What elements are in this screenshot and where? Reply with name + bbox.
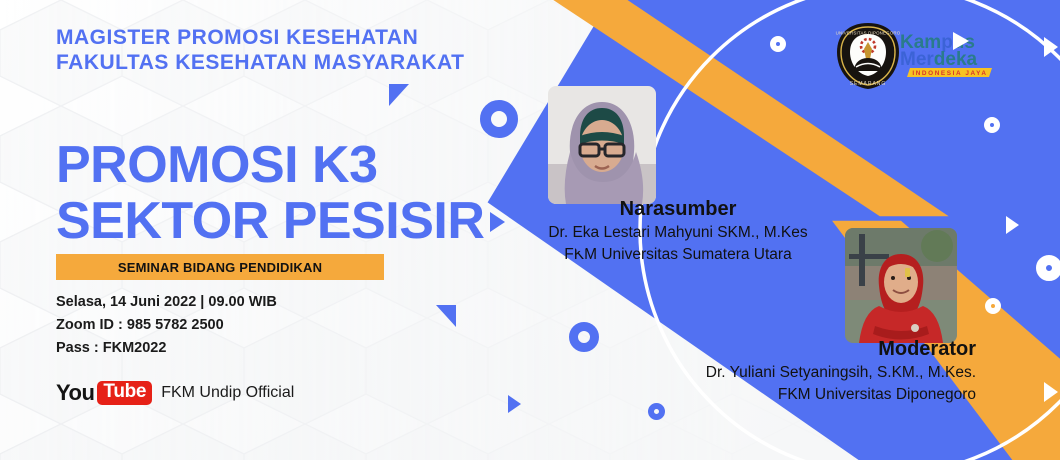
moderator-name: Dr. Yuliani Setyaningsih, S.KM., M.Kes. [660,362,976,384]
play-arrow-icon [490,212,505,232]
event-date: Selasa, 14 Juni 2022 | 09.00 WIB [56,291,277,314]
blue-ring-decor-1 [480,100,518,138]
header-line-1: MAGISTER PROMOSI KESEHATAN [56,26,464,51]
youtube-tube-text: Tube [97,381,152,405]
moderator-photo [845,228,957,343]
blue-triangle-decor-2 [436,305,456,327]
white-ring-decor-2 [984,117,1000,133]
page-title: PROMOSI K3 SEKTOR PESISIR [56,138,484,249]
white-ring-decor-3 [985,298,1001,314]
blue-ring-decor-4 [574,238,587,251]
badge-label: SEMINAR BIDANG PENDIDIKAN [118,260,322,275]
svg-text:SEMARANG: SEMARANG [850,81,887,87]
narasumber-role: Narasumber [528,197,828,222]
kampus-merdeka-logo-icon: Kampus Merdeka INDONESIA JAYA [898,28,1002,80]
youtube-channel-name: FKM Undip Official [161,384,294,402]
youtube-icon: You Tube [56,380,152,406]
narasumber-name: Dr. Eka Lestari Mahyuni SKM., M.Kes [528,222,828,244]
svg-text:INDONESIA JAYA: INDONESIA JAYA [912,70,987,77]
narasumber-block: Narasumber Dr. Eka Lestari Mahyuni SKM.,… [528,197,828,267]
narasumber-org: FKM Universitas Sumatera Utara [528,244,828,266]
white-ring-decor-1 [770,36,786,52]
title-line-1: PROMOSI K3 [56,138,484,194]
youtube-channel[interactable]: You Tube FKM Undip Official [56,380,294,406]
youtube-you-text: You [56,380,94,406]
seminar-banner: MAGISTER PROMOSI KESEHATAN FAKULTAS KESE… [0,0,1060,460]
svg-text:Merdeka: Merdeka [900,49,978,70]
svg-text:UNIVERSITAS DIPONEGORO: UNIVERSITAS DIPONEGORO [836,31,901,36]
seminar-category-badge: SEMINAR BIDANG PENDIDIKAN [56,254,384,280]
universitas-diponegoro-seal-icon: UNIVERSITAS DIPONEGORO SEMARANG [835,22,901,90]
faculty-header: MAGISTER PROMOSI KESEHATAN FAKULTAS KESE… [56,26,464,76]
blue-ring-decor-2 [569,322,599,352]
blue-triangle-decor-3 [508,395,521,413]
moderator-org: FKM Universitas Diponegoro [660,384,976,406]
moderator-role: Moderator [660,337,976,362]
white-triangle-decor-3 [1044,382,1058,402]
white-triangle-decor-1 [1044,37,1058,57]
event-zoom-id: Zoom ID : 985 5782 2500 [56,314,277,337]
title-line-2: SEKTOR PESISIR [56,194,484,250]
moderator-block: Moderator Dr. Yuliani Setyaningsih, S.KM… [660,337,976,407]
blue-triangle-decor-1 [389,84,409,106]
white-ring-decor-4 [1036,255,1060,281]
event-details: Selasa, 14 Juni 2022 | 09.00 WIB Zoom ID… [56,291,277,359]
white-triangle-decor-2 [1006,216,1019,234]
blue-ring-decor-3 [648,403,665,420]
narasumber-photo [548,86,656,204]
header-line-2: FAKULTAS KESEHATAN MASYARAKAT [56,51,464,76]
event-pass: Pass : FKM2022 [56,337,277,360]
